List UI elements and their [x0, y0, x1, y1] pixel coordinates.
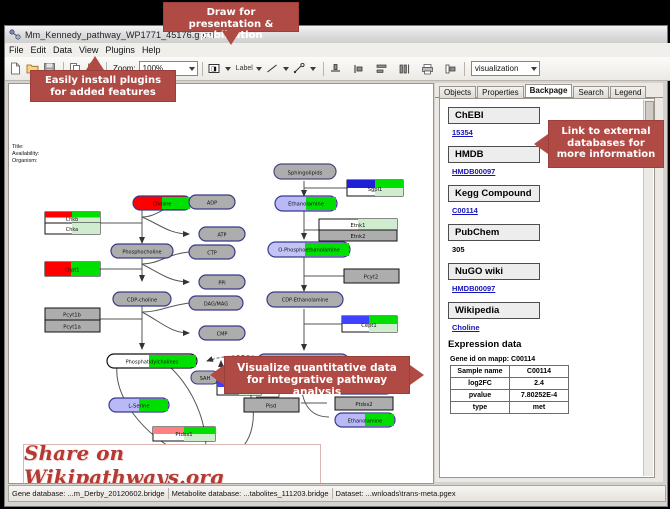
- table-cell-key: type: [451, 402, 510, 414]
- db-header-kegg: Kegg Compound: [448, 185, 540, 202]
- gene-sgpl1[interactable]: Sgpl1: [347, 180, 403, 196]
- chevron-down-icon: [531, 67, 537, 71]
- menu-view[interactable]: View: [79, 45, 98, 55]
- share-banner-text: Share on Wikipathways.org: [24, 441, 320, 484]
- node-label: CDP-Ethanolamine: [282, 298, 329, 304]
- line-dropdown-icon[interactable]: [283, 67, 289, 71]
- gene-label: Etnk1: [351, 223, 366, 229]
- table-cell-key: log2FC: [451, 378, 510, 390]
- table-cell-value: met: [510, 402, 569, 414]
- gene-label: Etnk2: [351, 234, 366, 240]
- distribute-vertical-icon[interactable]: [397, 61, 412, 76]
- db-link-nugo[interactable]: HMDB00097: [452, 284, 654, 293]
- table-cell-value: C00114: [510, 366, 569, 378]
- gene-ptdss2[interactable]: Ptdss2: [335, 397, 393, 410]
- node-label: Phosphocholine: [122, 250, 161, 256]
- db-header-chebi: ChEBI: [448, 107, 540, 124]
- gene-chka[interactable]: Chka: [45, 223, 100, 234]
- gene-label: Chkb: [66, 217, 79, 223]
- gene-etnk1[interactable]: Etnk1: [319, 219, 397, 230]
- node-choline-top[interactable]: Choline: [133, 196, 191, 210]
- node-sphingolipids[interactable]: Sphingolipids: [274, 164, 336, 179]
- menu-file[interactable]: File: [9, 45, 24, 55]
- db-link-kegg[interactable]: C00114: [452, 206, 654, 215]
- node-label: Ethanolamine: [288, 202, 324, 208]
- pathvisio-app-icon: [9, 29, 21, 40]
- backpage-entry-kegg: Kegg Compound C00114: [448, 183, 654, 215]
- align-top-icon[interactable]: [328, 61, 343, 76]
- gene-id-line: Gene id on mapp: C00114: [450, 356, 654, 363]
- node-label: CMP: [217, 332, 228, 338]
- tab-search[interactable]: Search: [573, 86, 608, 98]
- table-row: log2FC 2.4: [451, 378, 569, 390]
- table-row: pvalue 7.80252E-4: [451, 390, 569, 402]
- table-cell-key: pvalue: [451, 390, 510, 402]
- node-label: CTP: [207, 251, 217, 257]
- menu-edit[interactable]: Edit: [31, 45, 47, 55]
- db-header-hmdb: HMDB: [448, 146, 540, 163]
- align-left-icon[interactable]: [351, 61, 366, 76]
- node-cdp-ethanolamine[interactable]: CDP-Ethanolamine: [267, 292, 343, 307]
- node-label: Ethanolamine: [348, 419, 383, 425]
- new-file-icon[interactable]: [8, 61, 23, 76]
- node-label: Phosphatidylcholines: [126, 360, 179, 366]
- menu-data[interactable]: Data: [53, 45, 72, 55]
- print-icon[interactable]: [420, 61, 435, 76]
- status-metabolite-database: Metabolite database: ...tabolites_111203…: [169, 489, 332, 498]
- gene-chpt1-left[interactable]: Chpt1: [45, 262, 100, 276]
- node-label: L-Serine: [128, 404, 149, 410]
- db-value-pubchem: 305: [452, 245, 654, 254]
- menu-plugins[interactable]: Plugins: [105, 45, 135, 55]
- table-cell-value: 2.4: [510, 378, 569, 390]
- gene-ptdss1[interactable]: Ptdss1: [153, 427, 215, 441]
- table-row: type met: [451, 402, 569, 414]
- node-ctp[interactable]: CTP: [189, 245, 235, 259]
- visualization-combobox[interactable]: visualization: [471, 61, 540, 76]
- screenshot-root: Mm_Kennedy_pathway_WP1771_45176.gpml Fil…: [0, 0, 670, 509]
- gene-label: Pisd: [266, 404, 276, 410]
- callout-visualize: Visualize quantitative data for integrat…: [224, 356, 410, 394]
- node-atp[interactable]: ATP: [199, 227, 245, 241]
- gene-chkb[interactable]: Chkb: [45, 212, 100, 223]
- svg-text:◨: ◨: [211, 65, 217, 72]
- callout-plugins: Easily install plugins for added feature…: [30, 70, 176, 102]
- chevron-down-icon: [189, 67, 195, 71]
- group-icon[interactable]: [443, 61, 458, 76]
- callout-visualize-arrow-left: [210, 365, 224, 385]
- gene-label: Ptdss2: [355, 402, 372, 408]
- node-o-phosphoethanolamine[interactable]: O-Phosphoethanolamine: [268, 242, 350, 257]
- table-row: Sample name C00114: [451, 366, 569, 378]
- node-adp[interactable]: ADP: [189, 195, 235, 209]
- side-panel-tabs: Objects Properties Backpage Search Legen…: [435, 83, 663, 98]
- label-dropdown-icon[interactable]: [256, 67, 262, 71]
- db-header-wikipedia: Wikipedia: [448, 302, 540, 319]
- toolbar-separator-5: [464, 62, 465, 76]
- node-ppi[interactable]: PPi: [199, 275, 245, 289]
- tab-legend[interactable]: Legend: [610, 86, 647, 98]
- node-ethanolamine-top[interactable]: Ethanolamine: [275, 196, 337, 211]
- node-label: O-Phosphoethanolamine: [278, 248, 340, 254]
- status-gene-database: Gene database: ...m_Derby_20120602.bridg…: [9, 489, 168, 498]
- share-banner: Share on Wikipathways.org: [23, 444, 321, 484]
- gene-pcyt1b[interactable]: Pcyt1b: [45, 308, 100, 320]
- gene-label: Sgpl1: [368, 187, 383, 193]
- backpage-entry-pubchem: PubChem 305: [448, 222, 654, 254]
- db-header-nugo: NuGO wiki: [448, 263, 540, 280]
- node-l-serine-left[interactable]: L-Serine: [109, 398, 169, 412]
- line-icon[interactable]: [265, 61, 280, 76]
- gene-label: Ptdss1: [175, 432, 192, 438]
- expression-table: Sample name C00114 log2FC 2.4 pvalue 7.8…: [450, 365, 569, 414]
- gene-pcyt2[interactable]: Pcyt2: [344, 269, 399, 283]
- anchor-icon[interactable]: [292, 61, 307, 76]
- menu-help[interactable]: Help: [142, 45, 161, 55]
- toolbar-separator-4: [323, 62, 324, 76]
- node-cdp-choline[interactable]: CDP-choline: [113, 292, 171, 306]
- menu-bar: File Edit Data View Plugins Help: [5, 43, 670, 58]
- node-label: CDP-choline: [127, 298, 157, 304]
- tab-properties[interactable]: Properties: [477, 86, 523, 98]
- pathway-graphic[interactable]: Sphingolipids Sgpl1 Choline: [9, 84, 433, 483]
- tab-objects[interactable]: Objects: [439, 86, 476, 98]
- gene-label: Chka: [66, 227, 79, 233]
- label-tool-label[interactable]: Label: [236, 65, 253, 72]
- anchor-dropdown-icon[interactable]: [310, 67, 316, 71]
- backpage-entry-wikipedia: Wikipedia Choline: [448, 300, 654, 332]
- node-label: ATP: [217, 233, 226, 239]
- gene-label: Pcyt2: [364, 275, 378, 281]
- node-phosphocholine[interactable]: Phosphocholine: [111, 244, 173, 258]
- tab-backpage[interactable]: Backpage: [525, 84, 573, 97]
- status-dataset: Dataset: ...wnloads\trans-meta.pgex: [333, 489, 459, 498]
- gene-label: Pcyt1b: [63, 313, 81, 319]
- backpage-entry-nugo: NuGO wiki HMDB00097: [448, 261, 654, 293]
- datanode-icon[interactable]: ◨: [207, 61, 222, 76]
- node-label: Sphingolipids: [288, 171, 323, 177]
- db-link-wikipedia[interactable]: Choline: [452, 323, 654, 332]
- distribute-horizontal-icon[interactable]: [374, 61, 389, 76]
- node-dag-mag[interactable]: DAG/MAG: [189, 296, 243, 310]
- toolbar-separator-3: [202, 62, 203, 76]
- node-label: SAH: [200, 376, 211, 382]
- gene-pcyt1a[interactable]: Pcyt1a: [45, 320, 100, 332]
- expression-data-heading: Expression data: [448, 339, 654, 350]
- db-link-hmdb[interactable]: HMDB00097: [452, 167, 654, 176]
- node-label: DAG/MAG: [204, 302, 228, 308]
- db-header-pubchem: PubChem: [448, 224, 540, 241]
- callout-links: Link to external databases for more info…: [548, 120, 664, 168]
- node-label: ADP: [207, 201, 217, 207]
- gene-label: Cept1: [361, 323, 376, 329]
- node-label: Choline: [153, 202, 172, 208]
- callout-plugins-arrow: [86, 56, 104, 70]
- table-cell-key: Sample name: [451, 366, 510, 378]
- callout-draw-arrow: [222, 31, 240, 45]
- datanode-dropdown-icon[interactable]: [225, 67, 231, 71]
- pathway-canvas[interactable]: Title: Availability: Organism:: [8, 83, 434, 484]
- gene-label: Pcyt1a: [63, 325, 81, 331]
- gene-label: Chpt1: [65, 268, 80, 274]
- status-bar: Gene database: ...m_Derby_20120602.bridg…: [8, 485, 666, 502]
- gene-etnk2[interactable]: Etnk2: [319, 230, 397, 241]
- callout-draw: Draw for presentation & publication: [163, 2, 299, 32]
- node-phosphatidylcholines[interactable]: Phosphatidylcholines: [107, 354, 197, 368]
- gene-cept1[interactable]: Cept1: [342, 316, 397, 332]
- callout-visualize-arrow-right: [410, 365, 424, 385]
- window-title-bar: Mm_Kennedy_pathway_WP1771_45176.gpml: [5, 26, 667, 44]
- table-cell-value: 7.80252E-4: [510, 390, 569, 402]
- node-label: PPi: [218, 281, 225, 287]
- callout-links-arrow: [534, 134, 548, 154]
- visualization-value: visualization: [475, 64, 519, 73]
- node-cmp[interactable]: CMP: [199, 326, 245, 340]
- gene-pisd[interactable]: Pisd: [244, 398, 299, 412]
- node-ethanolamine-bottom[interactable]: Ethanolamine: [335, 413, 395, 427]
